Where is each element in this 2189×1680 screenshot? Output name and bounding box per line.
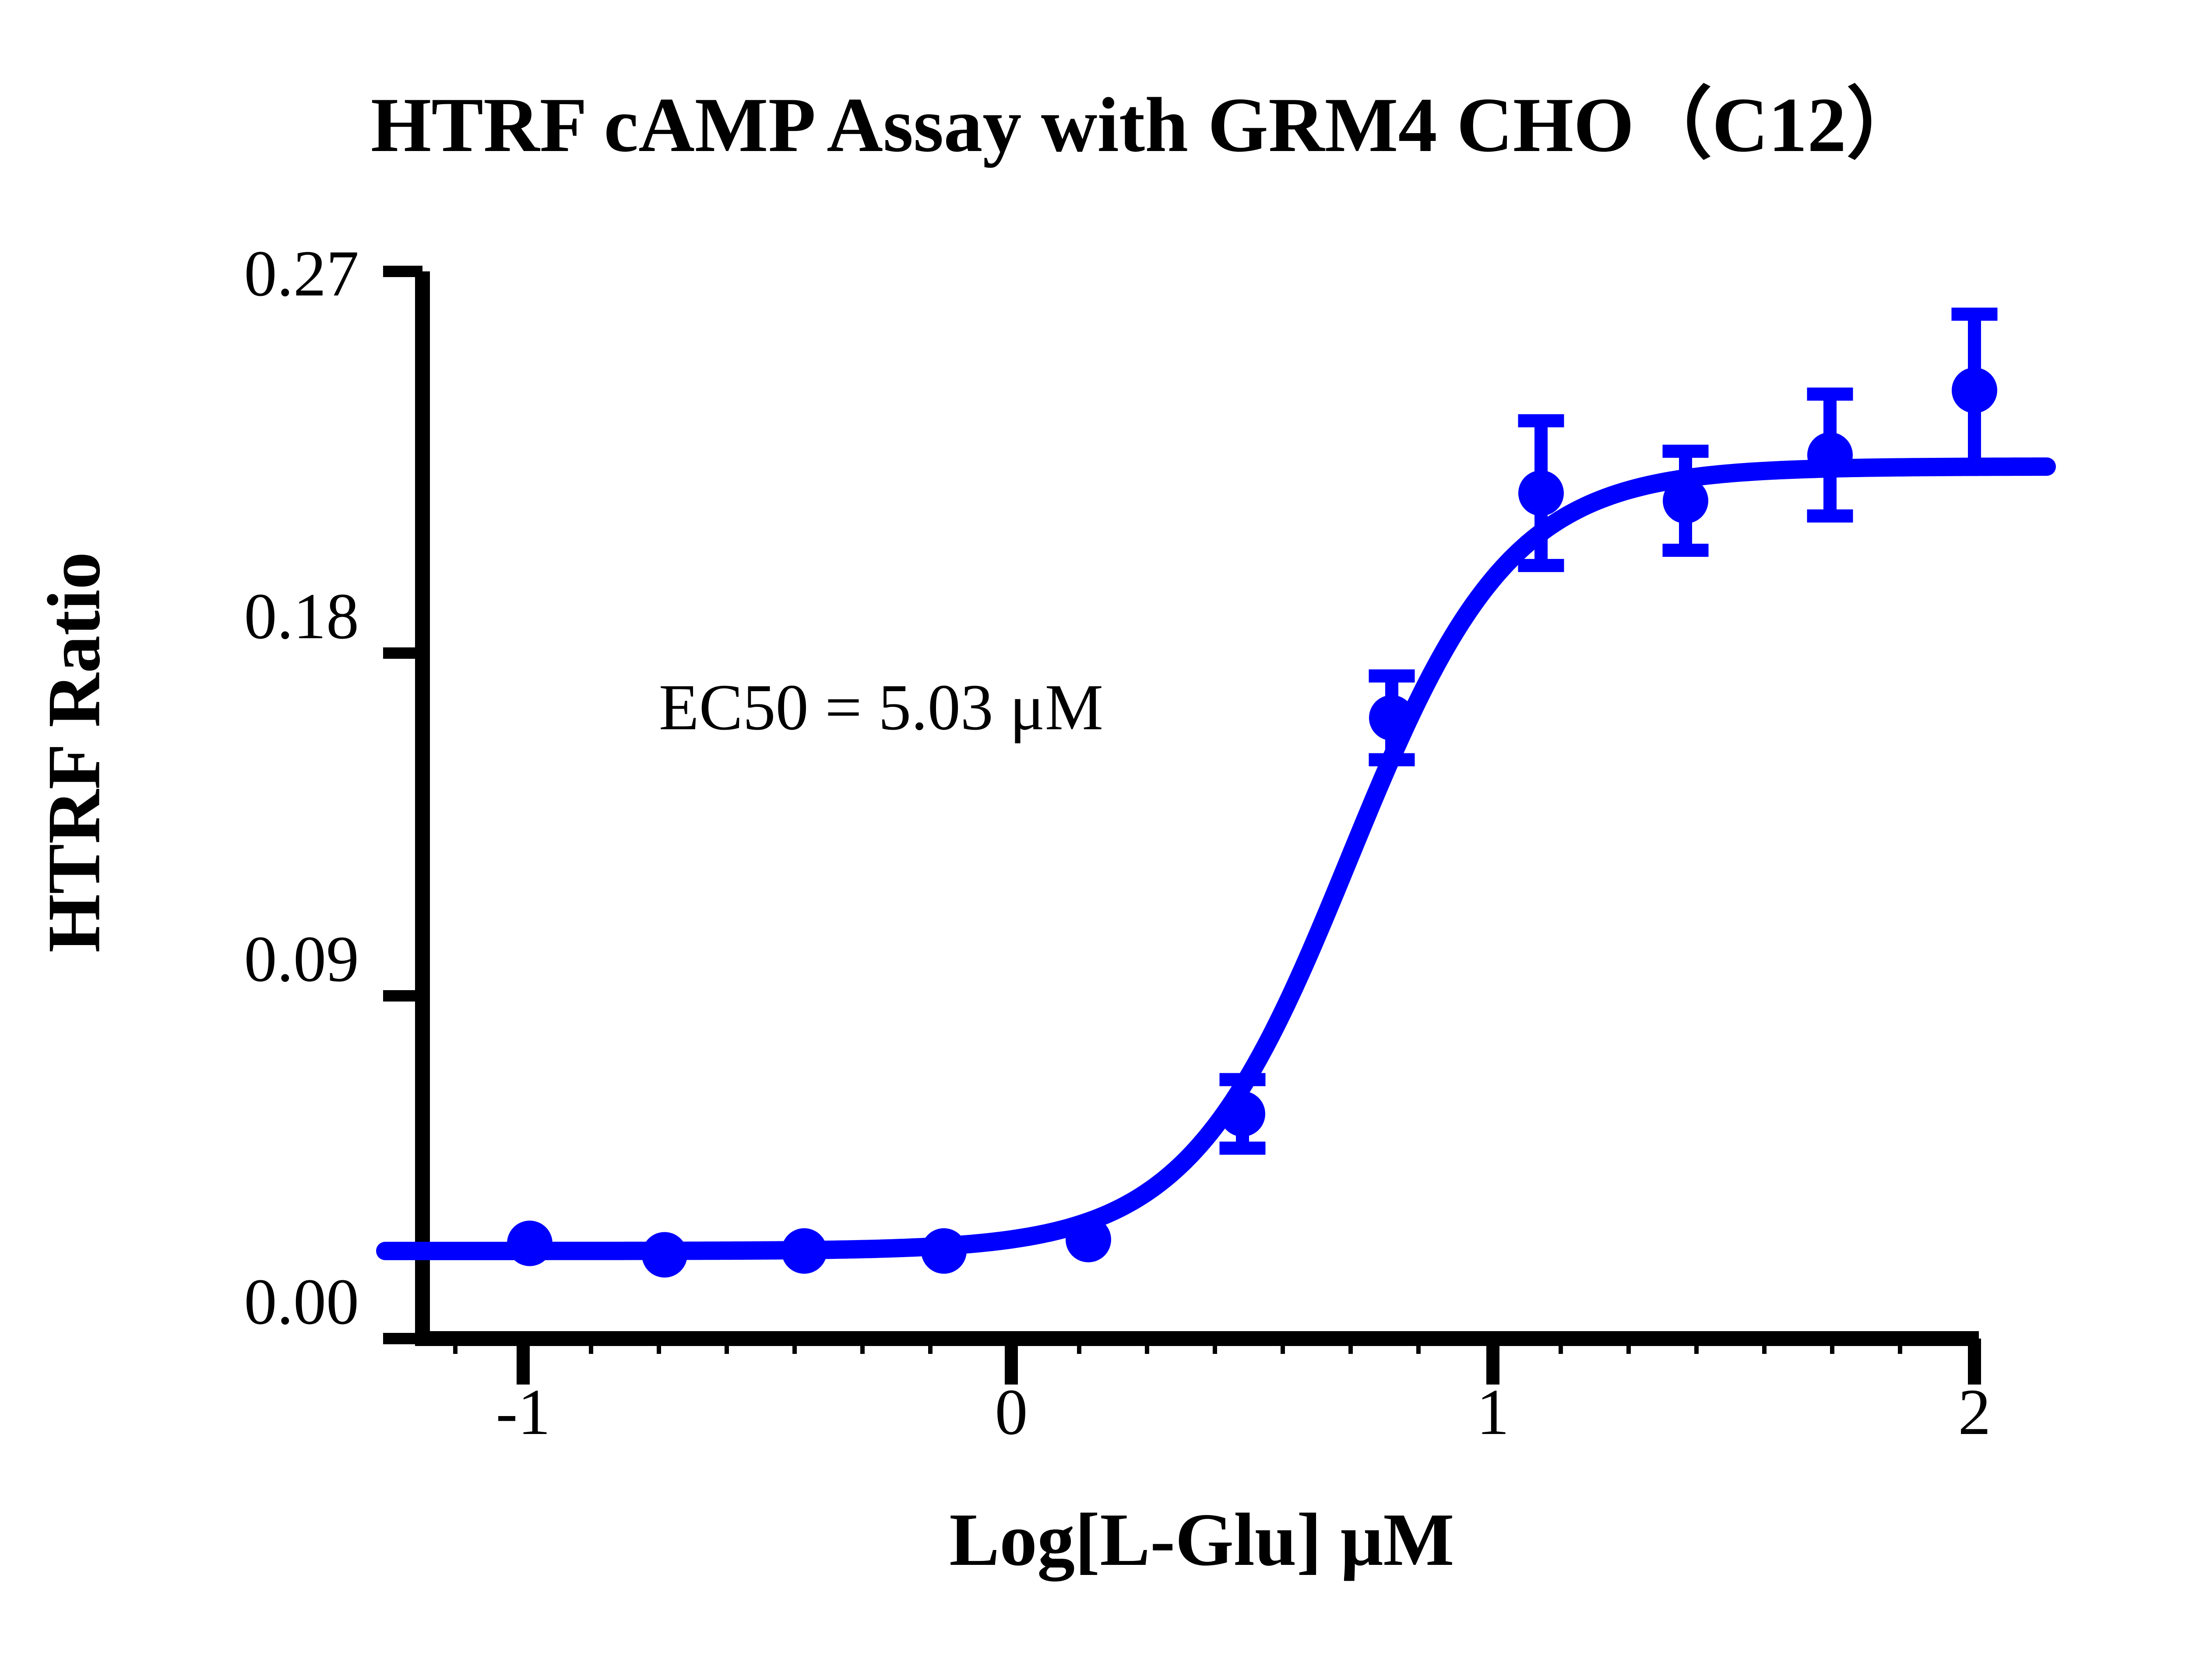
plot-area xyxy=(0,0,2189,1680)
data-point-marker xyxy=(1807,432,1853,478)
error-bars xyxy=(1220,314,1998,1148)
data-point-marker xyxy=(921,1228,967,1274)
fit-curve xyxy=(385,467,2047,1251)
data-point-marker xyxy=(1663,478,1708,524)
data-point-marker xyxy=(1066,1217,1111,1262)
data-point-marker xyxy=(1952,368,1997,413)
data-point-marker xyxy=(507,1221,553,1266)
data-point-marker xyxy=(1369,695,1415,741)
data-point-marker xyxy=(1518,471,1564,516)
data-point-marker xyxy=(642,1232,687,1278)
chart-figure: HTRF cAMP Assay with GRM4 CHO（C12） HTRF … xyxy=(0,0,2189,1680)
data-point-marker xyxy=(1220,1091,1265,1137)
data-point-markers xyxy=(507,368,1997,1278)
data-point-marker xyxy=(781,1228,827,1274)
